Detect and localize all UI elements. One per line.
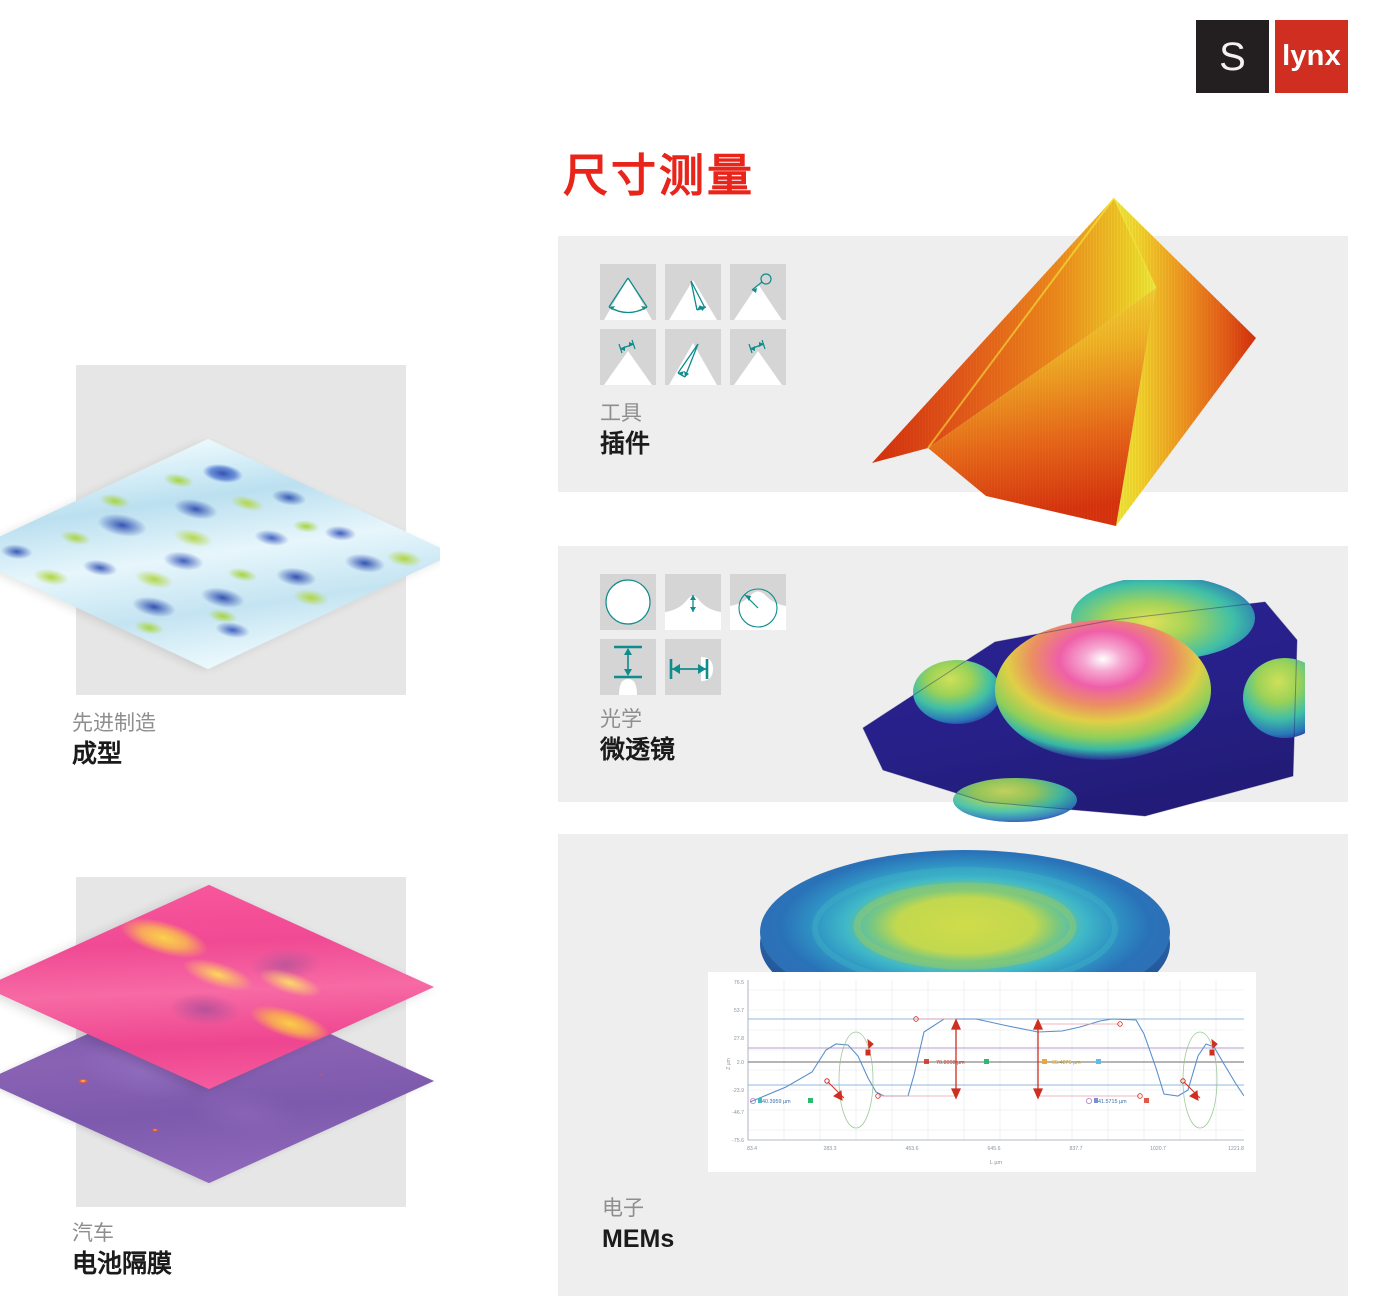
tools-title: 插件 <box>600 428 650 462</box>
tools-icon-group <box>600 264 786 385</box>
x-tick-2: 453.6 <box>906 1146 919 1152</box>
optics-icon-group <box>600 574 786 695</box>
automotive-title: 电池隔膜 <box>72 1248 172 1282</box>
logo-wordmark-text: lynx <box>1282 42 1341 71</box>
automotive-subtitle: 汽车 <box>72 1220 172 1248</box>
electronics-subtitle: 电子 <box>602 1195 674 1223</box>
mems-profile-chart: 76.5 53.7 27.8 2.0 -23.9 -46.7 -75.6 Z µ… <box>708 972 1256 1172</box>
automotive-visual <box>0 880 440 1220</box>
annotation-height-2: 65.4275 µm <box>1052 1060 1081 1066</box>
dome-height-icon[interactable] <box>665 574 721 630</box>
radius-probe-measure-icon[interactable] <box>730 264 786 320</box>
x-tick-3: 645.6 <box>988 1146 1001 1152</box>
y-tick-3: 2.0 <box>737 1060 744 1066</box>
prism-roof-visual <box>866 180 1266 545</box>
sag-height-icon[interactable] <box>600 639 656 695</box>
slynx-logo: S lynx <box>1196 20 1348 93</box>
tip-width-measure-icon[interactable] <box>730 329 786 385</box>
peak-slope-measure-icon[interactable] <box>665 264 721 320</box>
optics-subtitle: 光学 <box>600 706 675 734</box>
advanced-manufacturing-visual <box>0 350 440 710</box>
radius-of-curvature-icon[interactable] <box>730 574 786 630</box>
logo-wordmark-square: lynx <box>1275 20 1348 93</box>
logo-mark-square: S <box>1196 20 1269 93</box>
lens-width-icon[interactable] <box>665 639 721 695</box>
x-tick-0: 83.4 <box>747 1146 757 1152</box>
y-tick-4: -23.9 <box>732 1088 744 1094</box>
small-width-measure-icon[interactable] <box>600 329 656 385</box>
optics-caption: 光学 微透镜 <box>600 706 675 768</box>
annotation-angle-left: 40.3959 µm <box>762 1099 791 1105</box>
microlens-visual <box>845 580 1305 825</box>
y-tick-0: 76.5 <box>734 980 744 986</box>
logo-mark-letter: S <box>1219 37 1246 77</box>
y-tick-5: -46.7 <box>732 1110 744 1116</box>
x-tick-6: 1221.8 <box>1228 1146 1244 1152</box>
advanced-manufacturing-subtitle: 先进制造 <box>72 710 156 738</box>
x-axis-label: L µm <box>990 1160 1002 1166</box>
flank-angle-measure-icon[interactable] <box>665 329 721 385</box>
y-tick-1: 53.7 <box>734 1008 744 1014</box>
annotation-height-1: 70.8008 µm <box>936 1060 965 1066</box>
x-tick-1: 283.3 <box>824 1146 837 1152</box>
y-axis-label: Z µm <box>726 1058 732 1070</box>
optics-title: 微透镜 <box>600 734 675 768</box>
advanced-manufacturing-caption: 先进制造 成型 <box>72 710 156 772</box>
circle-diameter-icon[interactable] <box>600 574 656 630</box>
x-tick-4: 837.7 <box>1070 1146 1083 1152</box>
automotive-caption: 汽车 电池隔膜 <box>72 1220 172 1282</box>
y-tick-2: 27.8 <box>734 1036 744 1042</box>
tools-caption: 工具 插件 <box>600 400 650 462</box>
tools-subtitle: 工具 <box>600 400 650 428</box>
x-tick-5: 1020.7 <box>1150 1146 1166 1152</box>
annotation-angle-right: 41.5715 µm <box>1098 1099 1127 1105</box>
rough-surface-plate <box>0 439 440 669</box>
y-tick-6: -75.6 <box>732 1138 744 1144</box>
page-title: 尺寸测量 <box>563 139 755 204</box>
angle-arc-measure-icon[interactable] <box>600 264 656 320</box>
electronics-title: MEMs <box>602 1223 674 1257</box>
advanced-manufacturing-title: 成型 <box>72 738 156 772</box>
electronics-caption: 电子 MEMs <box>602 1195 674 1257</box>
